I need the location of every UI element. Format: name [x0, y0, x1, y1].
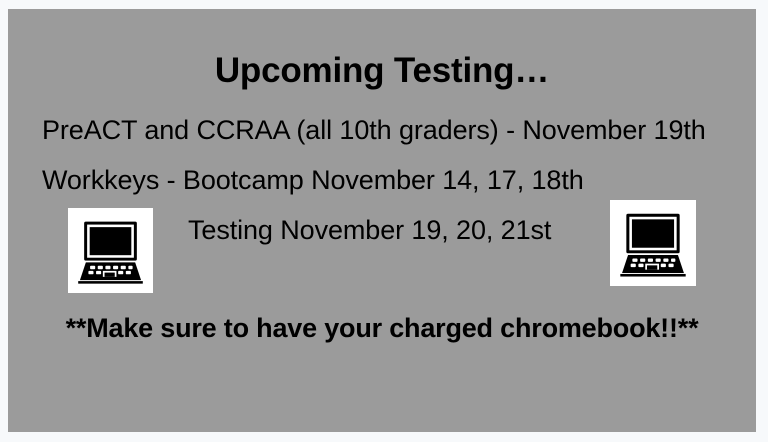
slide-root: Upcoming Testing… PreACT and CCRAA (all … — [0, 0, 768, 442]
chromebook-reminder: **Make sure to have your charged chromeb… — [8, 314, 756, 342]
laptop-icon — [610, 200, 696, 286]
testing-line-testing-dates: Testing November 19, 20, 21st — [188, 216, 551, 244]
testing-line-workkeys: Workkeys - Bootcamp November 14, 17, 18t… — [42, 166, 584, 194]
laptop-icon-plate-right — [610, 200, 696, 286]
laptop-icon — [68, 208, 153, 293]
laptop-icon-plate-left — [68, 208, 153, 293]
slide-canvas: Upcoming Testing… PreACT and CCRAA (all … — [8, 9, 756, 432]
testing-line-preact: PreACT and CCRAA (all 10th graders) - No… — [42, 116, 706, 144]
page-title: Upcoming Testing… — [8, 53, 756, 90]
